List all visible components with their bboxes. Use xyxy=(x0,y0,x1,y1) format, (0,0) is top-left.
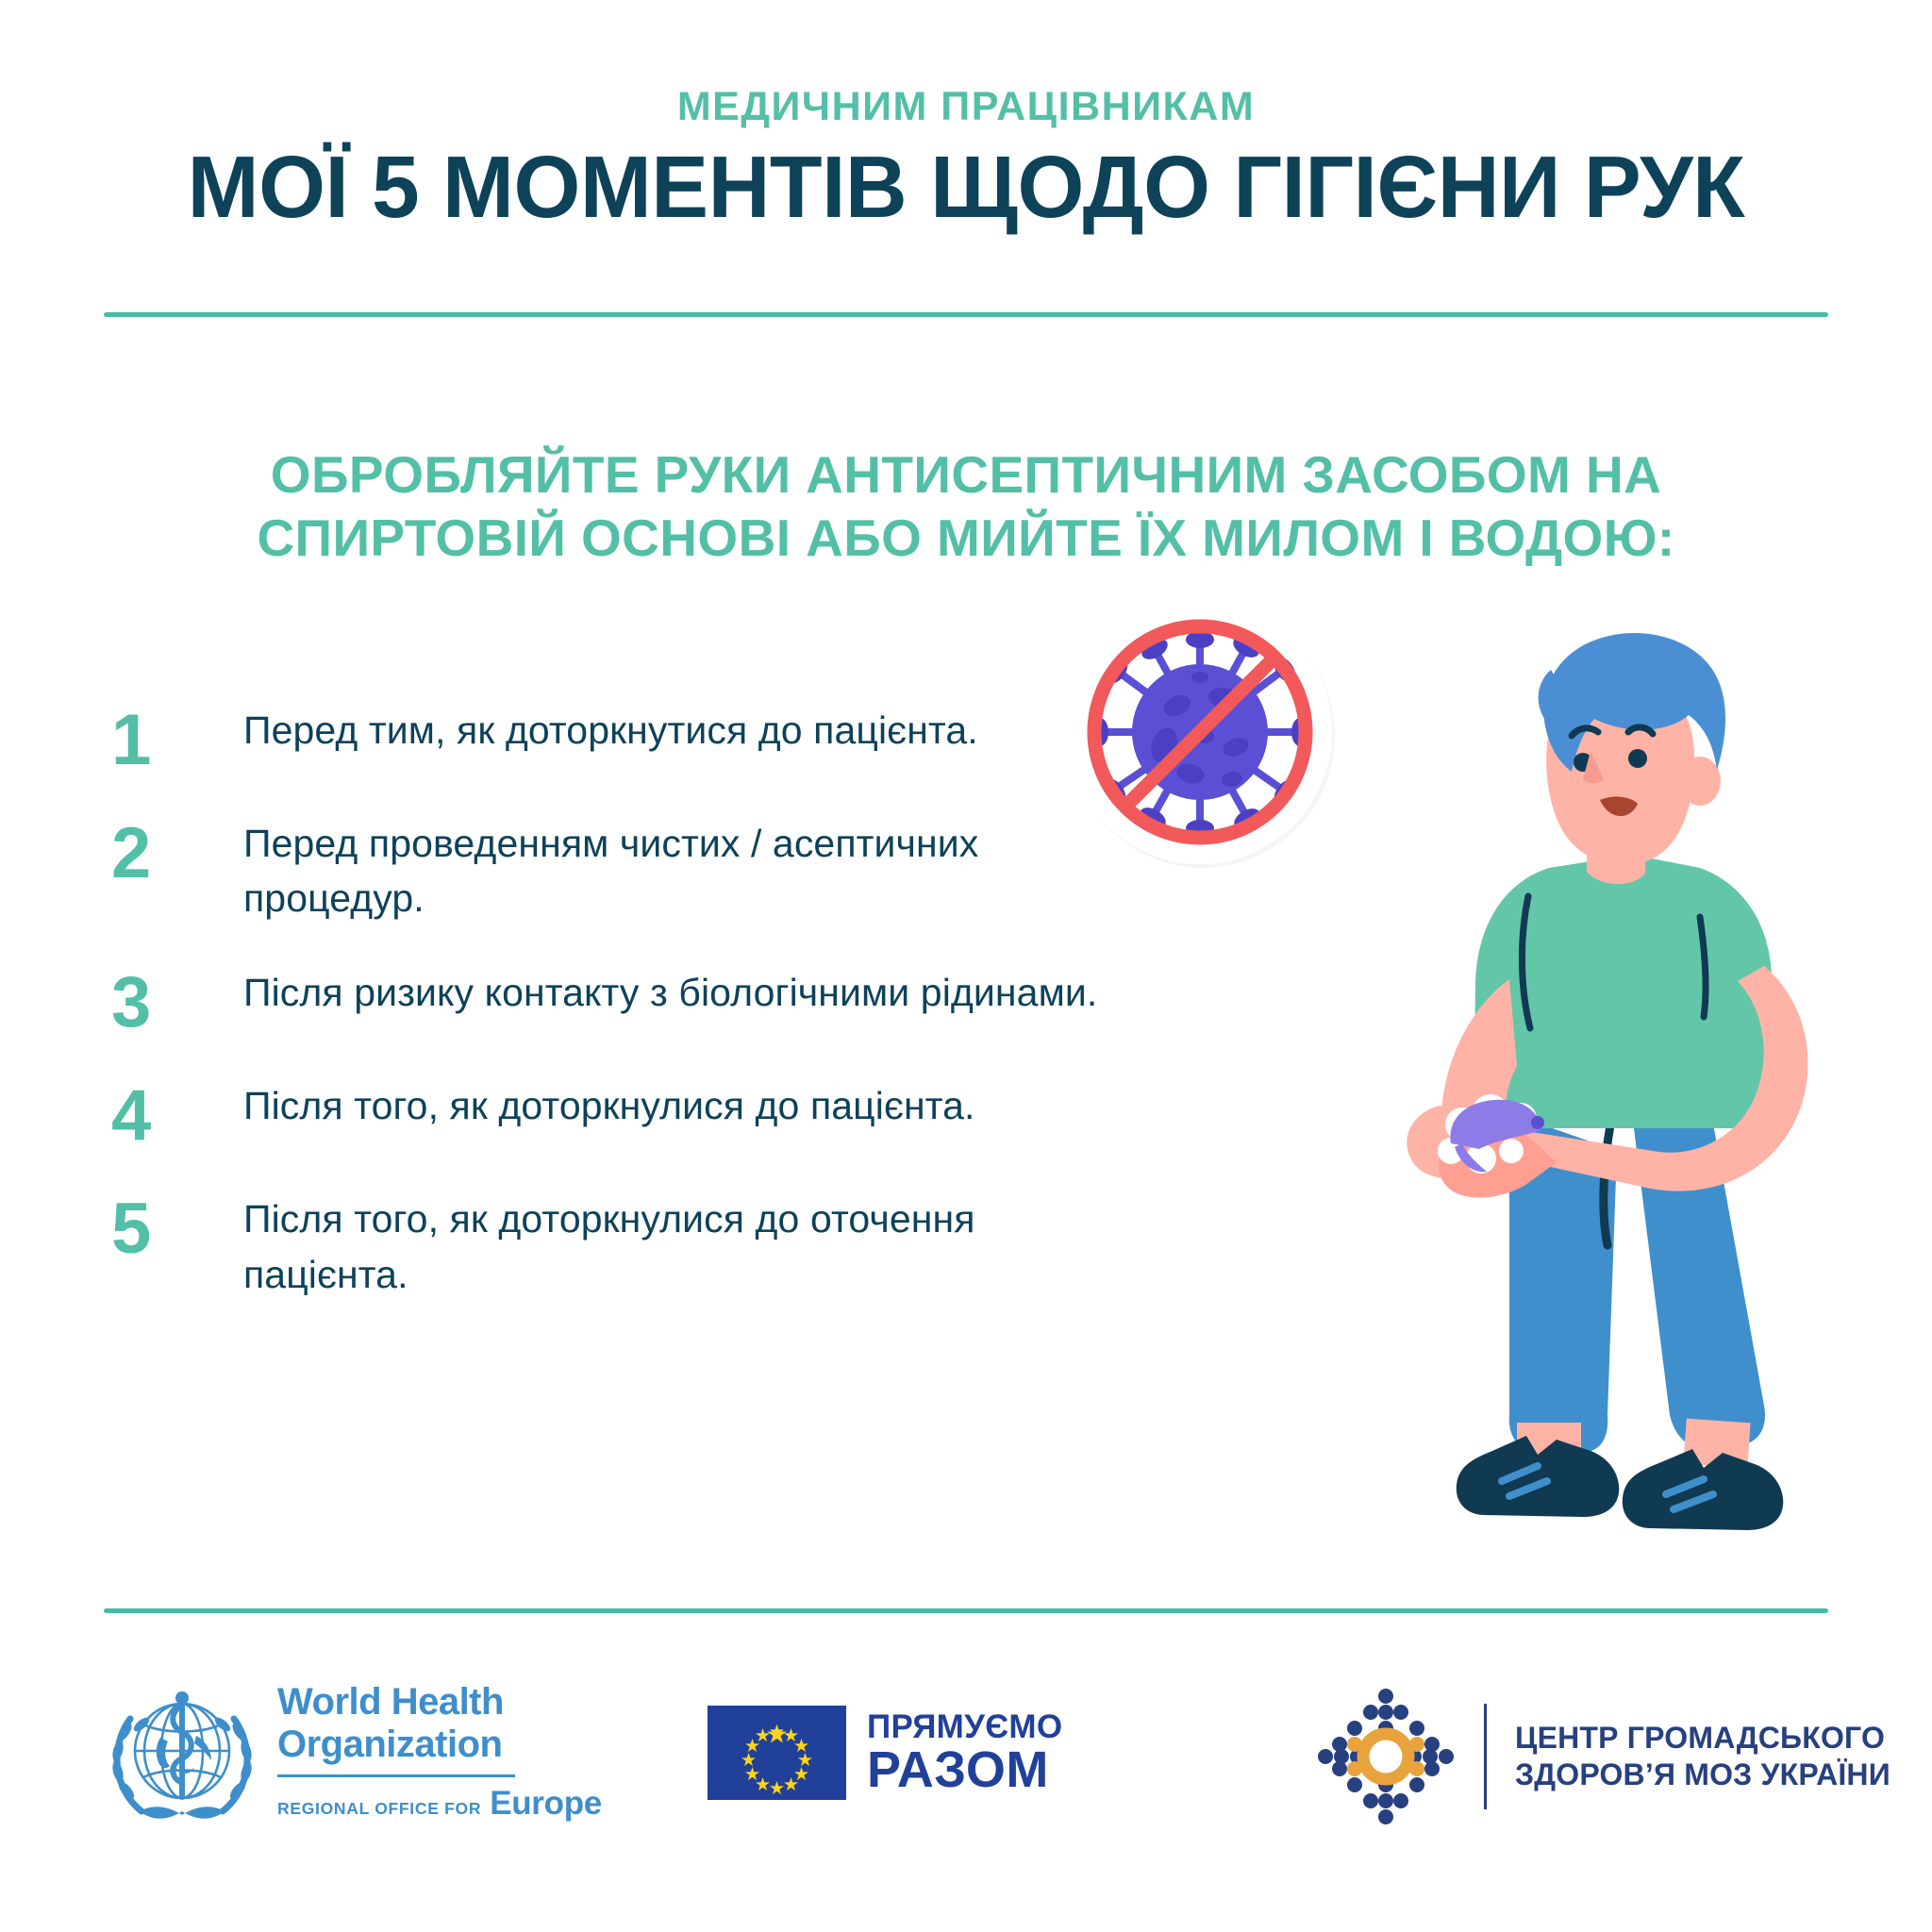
list-item: 5 Після того, як доторкнулися до оточенн… xyxy=(111,1191,1111,1301)
footer-logos: World Health Organization REGIONAL OFFIC… xyxy=(0,1641,1932,1924)
step-text: Перед тим, як доторкнутися до пацієнта. xyxy=(243,703,1111,758)
list-item: 1 Перед тим, як доторкнутися до пацієнта… xyxy=(111,703,1111,776)
step-text: Після того, як доторкнулися до пацієнта. xyxy=(243,1078,1111,1133)
step-number: 5 xyxy=(111,1191,243,1265)
header-eyebrow: МЕДИЧНИМ ПРАЦІВНИКАМ xyxy=(0,87,1932,127)
subtitle-line-2: СПИРТОВІЙ ОСНОВІ АБО МИЙТЕ ЇХ МИЛОМ І ВО… xyxy=(104,507,1828,570)
subtitle: ОБРОБЛЯЙТЕ РУКИ АНТИСЕПТИЧНИМ ЗАСОБОМ НА… xyxy=(104,443,1828,570)
who-regional-label: REGIONAL OFFICE FOR xyxy=(277,1799,481,1819)
who-emblem-icon xyxy=(102,1677,262,1838)
eu-wordmark: ПРЯМУЄМО РАЗОМ xyxy=(867,1710,1062,1795)
eu-text-line-1: ПРЯМУЄМО xyxy=(867,1710,1062,1743)
illustration-area xyxy=(1066,585,1877,1594)
list-item: 2 Перед проведенням чистих / асептичних … xyxy=(111,816,1111,925)
divider-bottom xyxy=(104,1608,1828,1613)
subtitle-line-1: ОБРОБЛЯЙТЕ РУКИ АНТИСЕПТИЧНИМ ЗАСОБОМ НА xyxy=(104,443,1828,507)
who-name-line-2: Organization xyxy=(277,1724,602,1766)
steps-list: 1 Перед тим, як доторкнутися до пацієнта… xyxy=(111,703,1111,1302)
step-number: 2 xyxy=(111,816,243,890)
phc-logo-divider xyxy=(1484,1704,1487,1809)
who-wordmark: World Health Organization REGIONAL OFFIC… xyxy=(277,1677,602,1823)
step-text: Перед проведенням чистих / асептичних пр… xyxy=(243,816,1111,925)
phc-wordmark: ЦЕНТР ГРОМАДСЬКОГО ЗДОРОВ’Я МОЗ УКРАЇНИ xyxy=(1515,1720,1890,1793)
who-logo: World Health Organization REGIONAL OFFIC… xyxy=(102,1677,602,1838)
phc-dot-mandala-icon xyxy=(1316,1687,1456,1826)
who-region-name: Europe xyxy=(490,1785,602,1823)
person-washing-hands-illustration xyxy=(1407,633,1821,1541)
step-text: Після того, як доторкнулися до оточення … xyxy=(243,1191,1111,1301)
who-wordmark-divider xyxy=(277,1774,515,1777)
divider-top xyxy=(104,312,1828,317)
eu-flag-icon xyxy=(708,1706,846,1800)
step-number: 3 xyxy=(111,965,243,1039)
poster-header: МЕДИЧНИМ ПРАЦІВНИКАМ МОЇ 5 МОМЕНТІВ ЩОДО… xyxy=(0,87,1932,234)
phc-logo: ЦЕНТР ГРОМАДСЬКОГО ЗДОРОВ’Я МОЗ УКРАЇНИ xyxy=(1316,1687,1890,1826)
page-title: МОЇ 5 МОМЕНТІВ ЩОДО ГІГІЄНИ РУК xyxy=(19,141,1912,234)
infographic-poster: МЕДИЧНИМ ПРАЦІВНИКАМ МОЇ 5 МОМЕНТІВ ЩОДО… xyxy=(0,0,1932,1932)
step-number: 4 xyxy=(111,1078,243,1152)
step-text: Після ризику контакту з біологічними рід… xyxy=(243,965,1111,1020)
phc-text-line-1: ЦЕНТР ГРОМАДСЬКОГО xyxy=(1515,1720,1890,1757)
eu-text-line-2: РАЗОМ xyxy=(867,1744,1062,1795)
who-name-line-1: World Health xyxy=(277,1681,602,1724)
no-virus-prohibition-icon xyxy=(1068,600,1335,868)
list-item: 4 Після того, як доторкнулися до пацієнт… xyxy=(111,1078,1111,1152)
list-item: 3 Після ризику контакту з біологічними р… xyxy=(111,965,1111,1039)
eu-logo: ПРЯМУЄМО РАЗОМ xyxy=(708,1706,1062,1800)
phc-text-line-2: ЗДОРОВ’Я МОЗ УКРАЇНИ xyxy=(1515,1757,1890,1793)
step-number: 1 xyxy=(111,703,243,776)
